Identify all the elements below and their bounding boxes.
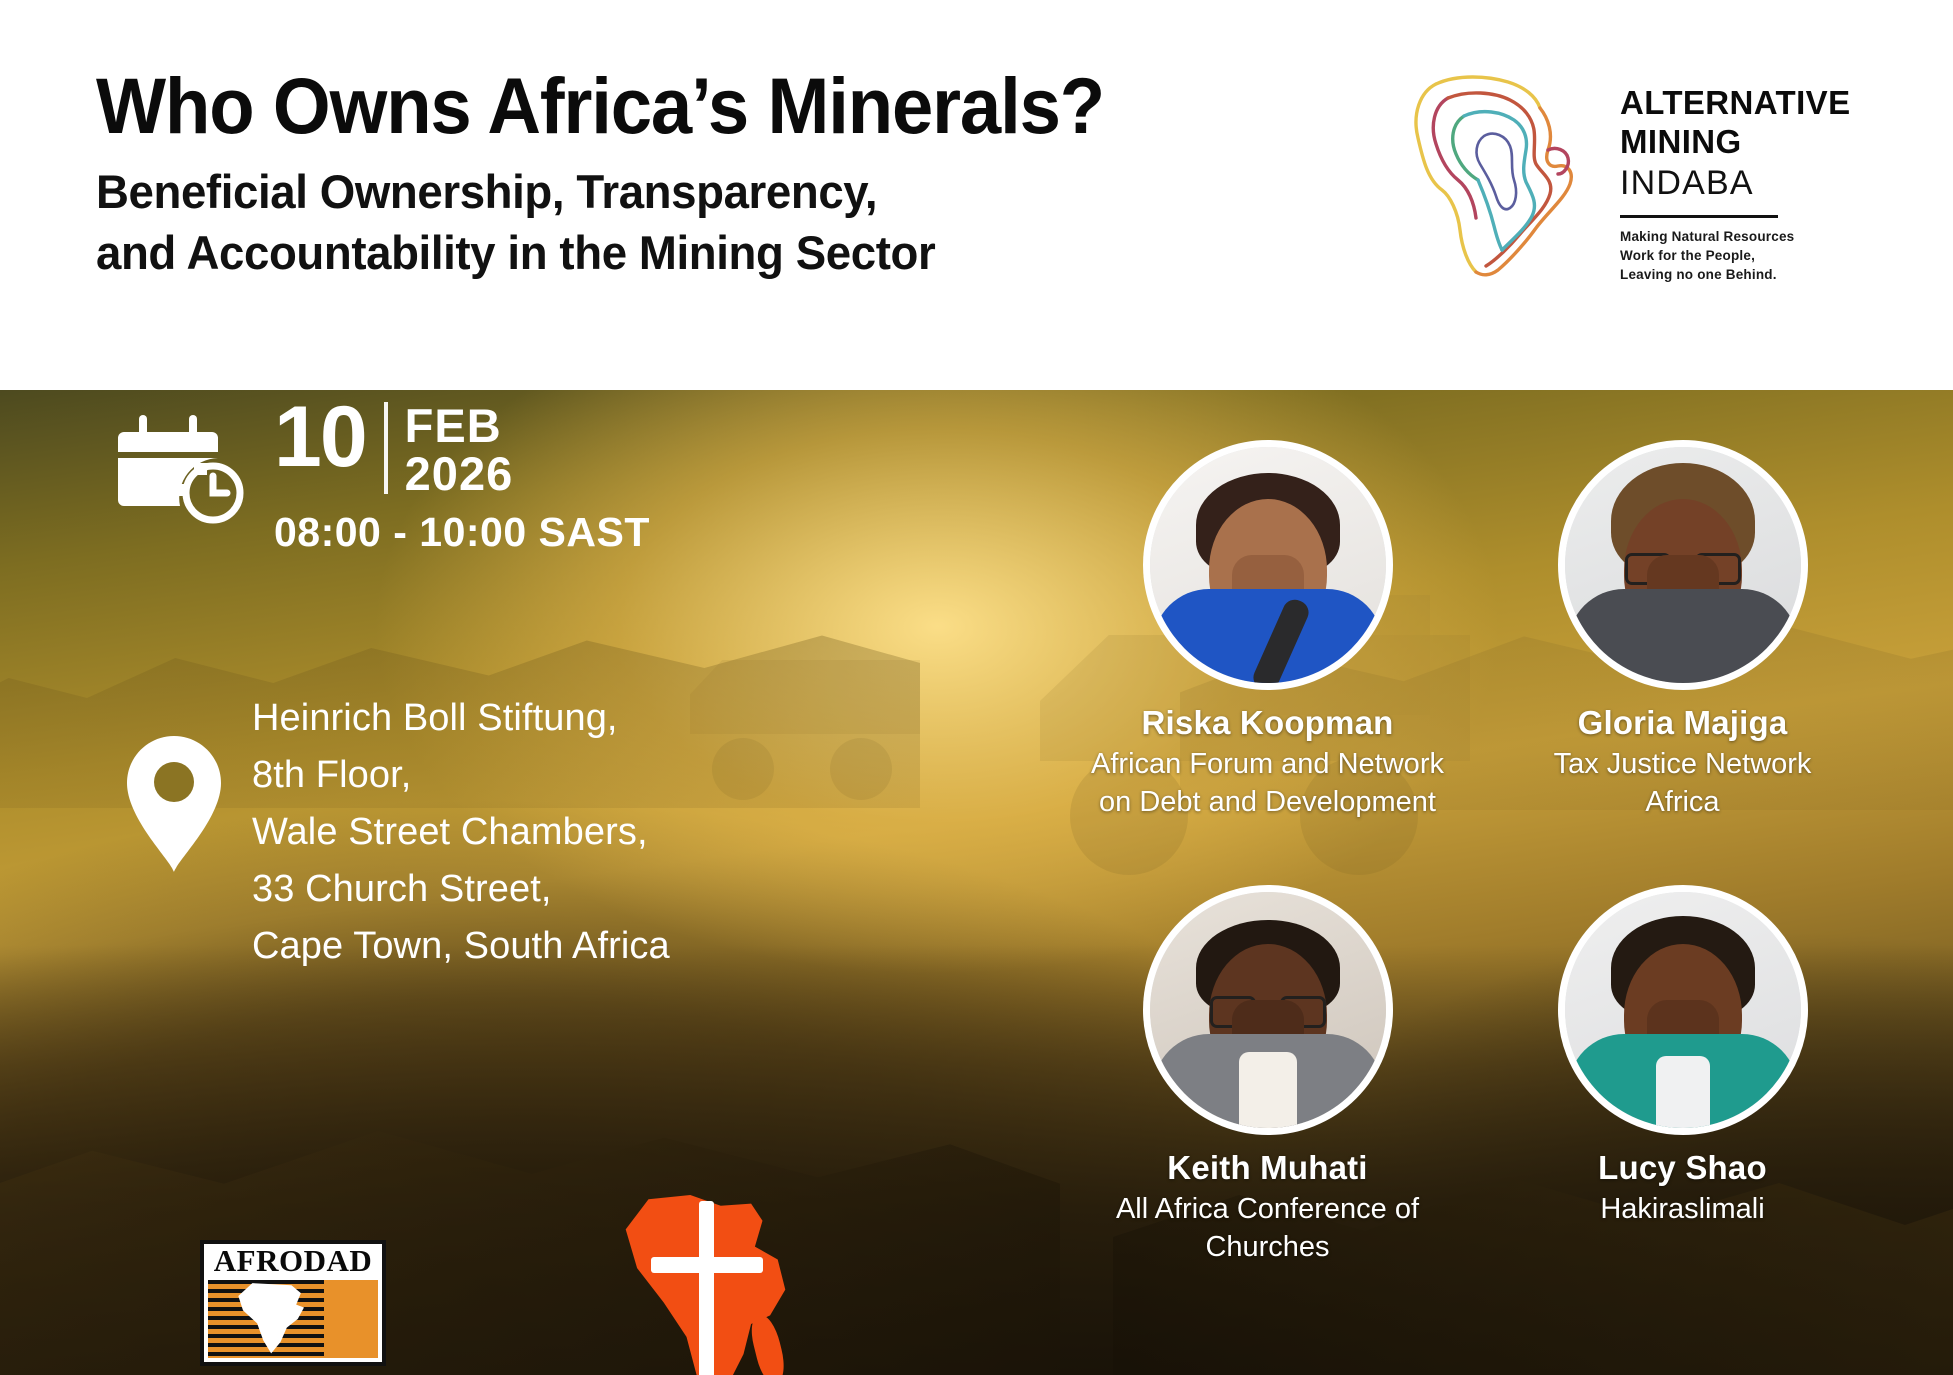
speaker-org: Hakiraslimali bbox=[1475, 1191, 1890, 1229]
brand-line-2: MINING bbox=[1620, 123, 1870, 162]
avatar bbox=[1143, 440, 1393, 690]
brand-wordmark: ALTERNATIVE MINING INDABA Making Natural… bbox=[1620, 84, 1870, 284]
poster-header: Who Owns Africa’s Minerals? Beneficial O… bbox=[0, 0, 1953, 390]
speaker-org-line-1: Tax Justice Network bbox=[1501, 746, 1864, 784]
event-month: FEB bbox=[405, 402, 514, 450]
event-time: 08:00 - 10:00 SAST bbox=[274, 509, 650, 556]
brand-divider bbox=[1620, 215, 1778, 218]
event-year: 2026 bbox=[405, 450, 514, 498]
venue-line-1: Heinrich Boll Stiftung, bbox=[252, 690, 670, 747]
event-venue-block: Heinrich Boll Stiftung, 8th Floor, Wale … bbox=[118, 690, 670, 975]
brand-line-3: INDABA bbox=[1620, 163, 1870, 204]
speaker-card: Keith Muhati All Africa Conference of Ch… bbox=[1060, 885, 1475, 1266]
avatar bbox=[1558, 440, 1808, 690]
afrodad-wordmark: AFRODAD bbox=[204, 1244, 382, 1278]
africa-outline-icon bbox=[1398, 62, 1594, 280]
speaker-card: Riska Koopman African Forum and Network … bbox=[1060, 440, 1475, 821]
speaker-name: Riska Koopman bbox=[1060, 704, 1475, 742]
calendar-clock-icon bbox=[118, 406, 246, 526]
subtitle-line-2: and Accountability in the Mining Sector bbox=[96, 222, 1241, 283]
afrodad-africa-graphic bbox=[208, 1280, 378, 1358]
venue-address: Heinrich Boll Stiftung, 8th Floor, Wale … bbox=[252, 690, 670, 975]
speaker-org: All Africa Conference of Churches bbox=[1060, 1191, 1475, 1266]
page-title: Who Owns Africa’s Minerals? bbox=[96, 66, 1205, 147]
aacc-africa-cross-icon bbox=[603, 1195, 808, 1375]
speaker-org-line-2: Churches bbox=[1086, 1229, 1449, 1267]
brand-tagline: Making Natural Resources Work for the Pe… bbox=[1620, 227, 1870, 284]
event-day: 10 bbox=[274, 400, 366, 476]
haul-truck-far-icon bbox=[690, 640, 950, 830]
brand-tagline-line-3: Leaving no one Behind. bbox=[1620, 265, 1870, 284]
avatar bbox=[1143, 885, 1393, 1135]
brand-tagline-line-1: Making Natural Resources bbox=[1620, 227, 1870, 246]
event-poster: Who Owns Africa’s Minerals? Beneficial O… bbox=[0, 0, 1953, 1375]
date-text: 10 FEB 2026 08:00 - 10:00 SAST bbox=[274, 400, 650, 556]
speaker-card: Lucy Shao Hakiraslimali bbox=[1475, 885, 1890, 1266]
speaker-name: Gloria Majiga bbox=[1475, 704, 1890, 742]
avatar bbox=[1558, 885, 1808, 1135]
speaker-name: Keith Muhati bbox=[1060, 1149, 1475, 1187]
aacc-ceta-logo: AACC-CETA bbox=[590, 1195, 820, 1375]
speakers-grid: Riska Koopman African Forum and Network … bbox=[1060, 440, 1890, 1267]
speaker-org-line-1: African Forum and Network bbox=[1086, 746, 1449, 784]
subtitle-line-1: Beneficial Ownership, Transparency, bbox=[96, 161, 1241, 222]
venue-line-2: 8th Floor, bbox=[252, 747, 670, 804]
page-subtitle: Beneficial Ownership, Transparency, and … bbox=[96, 161, 1241, 283]
speaker-org-line-1: Hakiraslimali bbox=[1501, 1191, 1864, 1229]
venue-line-5: Cape Town, South Africa bbox=[252, 918, 670, 975]
speaker-org-line-2: Africa bbox=[1501, 784, 1864, 822]
date-divider bbox=[384, 402, 388, 494]
speaker-name: Lucy Shao bbox=[1475, 1149, 1890, 1187]
event-datetime-block: 10 FEB 2026 08:00 - 10:00 SAST bbox=[118, 400, 650, 556]
speaker-card: Gloria Majiga Tax Justice Network Africa bbox=[1475, 440, 1890, 821]
title-block: Who Owns Africa’s Minerals? Beneficial O… bbox=[96, 66, 1276, 283]
venue-line-3: Wale Street Chambers, bbox=[252, 804, 670, 861]
afrodad-logo: AFRODAD AFRICAN FORUM AND NETWORK ON DEB… bbox=[148, 1240, 438, 1375]
location-pin-icon bbox=[118, 730, 230, 880]
brand-tagline-line-2: Work for the People, bbox=[1620, 246, 1870, 265]
speaker-org: Tax Justice Network Africa bbox=[1475, 746, 1890, 821]
speaker-org-line-1: All Africa Conference of bbox=[1086, 1191, 1449, 1229]
speaker-org-line-2: on Debt and Development bbox=[1086, 784, 1449, 822]
speaker-org: African Forum and Network on Debt and De… bbox=[1060, 746, 1475, 821]
brand-line-1: ALTERNATIVE bbox=[1620, 84, 1870, 123]
venue-line-4: 33 Church Street, bbox=[252, 861, 670, 918]
afrodad-mark-icon: AFRODAD bbox=[200, 1240, 386, 1366]
alternative-mining-indaba-logo: ALTERNATIVE MINING INDABA Making Natural… bbox=[1398, 62, 1868, 292]
